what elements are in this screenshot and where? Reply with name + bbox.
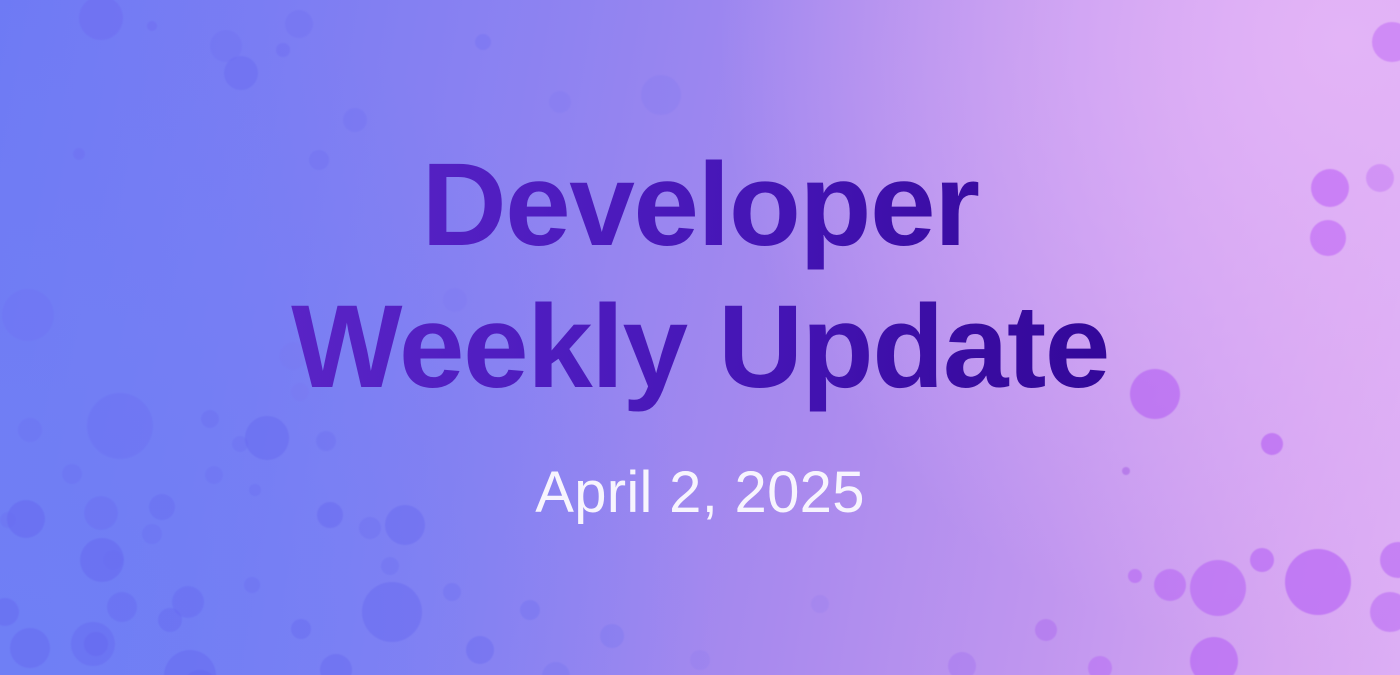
slide-content: Developer Weekly Update April 2, 2025: [0, 0, 1400, 675]
page-title: Developer Weekly Update: [291, 135, 1109, 418]
subtitle-date: April 2, 2025: [535, 459, 865, 526]
title-line-1: Developer: [291, 135, 1109, 277]
title-line-2: Weekly Update: [291, 277, 1109, 419]
slide-canvas: Developer Weekly Update April 2, 2025: [0, 0, 1400, 675]
